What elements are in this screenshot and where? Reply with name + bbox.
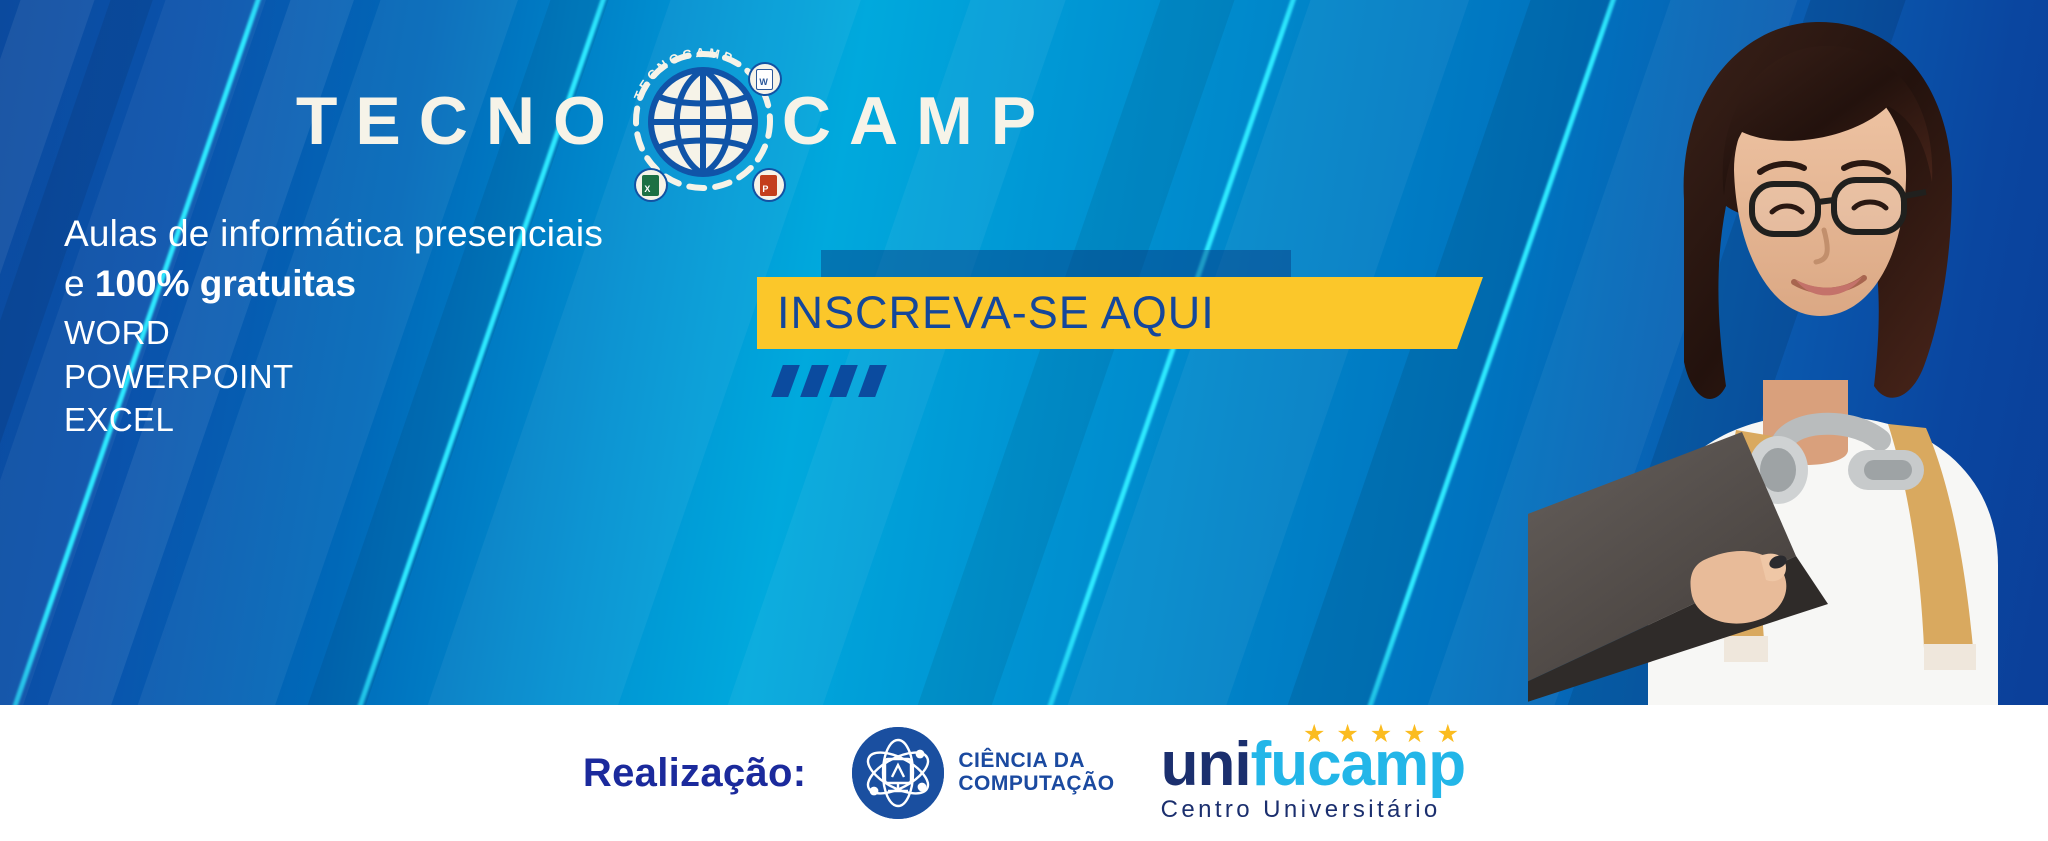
tecnocamp-logo: TECNO TECNOCAMP bbox=[0, 46, 1350, 196]
course-item-excel: EXCEL bbox=[64, 398, 824, 442]
unifucamp-logo: ★★★★★ unifucamp Centro Universitário bbox=[1161, 722, 1465, 825]
logo-text-left: TECNO bbox=[296, 87, 624, 155]
globe-icon: TECNOCAMP W bbox=[628, 46, 778, 196]
hero-section: TECNO TECNOCAMP bbox=[0, 0, 2048, 705]
dash bbox=[800, 365, 829, 397]
inscreva-se-button[interactable]: INSCREVA-SE AQUI bbox=[757, 277, 1457, 349]
tecnocamp-banner: TECNO TECNOCAMP bbox=[0, 0, 2048, 841]
cc-line-1: CIÊNCIA DA bbox=[958, 750, 1114, 773]
headline-line-2-prefix: e bbox=[64, 263, 95, 304]
student-illustration bbox=[1528, 0, 2048, 705]
unifucamp-tagline: Centro Universitário bbox=[1161, 796, 1465, 824]
powerpoint-icon: P bbox=[754, 170, 784, 200]
ciencia-computacao-logo: CIÊNCIA DA COMPUTAÇÃO bbox=[852, 727, 1114, 819]
atom-graphic bbox=[852, 727, 944, 819]
star-icon: ★ bbox=[1403, 722, 1425, 747]
footer-bar: Realização: bbox=[0, 705, 2048, 841]
realizacao-label: Realização: bbox=[583, 751, 806, 796]
excel-icon: X bbox=[636, 170, 666, 200]
headline-line-1: Aulas de informática presenciais bbox=[64, 212, 824, 256]
excel-icon-letter: X bbox=[642, 185, 650, 196]
ciencia-computacao-text: CIÊNCIA DA COMPUTAÇÃO bbox=[958, 750, 1114, 795]
unifucamp-stars: ★★★★★ bbox=[1303, 722, 1459, 747]
headline-line-2-strong: 100% gratuitas bbox=[95, 263, 356, 304]
powerpoint-icon-letter: P bbox=[760, 185, 768, 196]
star-icon: ★ bbox=[1370, 722, 1392, 747]
cta-dashes-decoration bbox=[777, 365, 897, 397]
dash bbox=[858, 365, 887, 397]
star-icon: ★ bbox=[1336, 722, 1358, 747]
atom-icon bbox=[852, 727, 944, 819]
star-icon: ★ bbox=[1437, 722, 1459, 747]
dash bbox=[829, 365, 858, 397]
course-item-powerpoint: POWERPOINT bbox=[64, 355, 824, 399]
word-icon-letter: W bbox=[757, 78, 768, 89]
cta-label: INSCREVA-SE AQUI bbox=[757, 287, 1215, 339]
cc-line-2: COMPUTAÇÃO bbox=[958, 773, 1114, 796]
course-list: WORD POWERPOINT EXCEL bbox=[64, 311, 824, 442]
course-item-word: WORD bbox=[64, 311, 824, 355]
student-photo bbox=[1528, 0, 2048, 705]
word-icon: W bbox=[750, 64, 780, 94]
headline-line-2: e 100% gratuitas bbox=[64, 262, 824, 306]
star-icon: ★ bbox=[1303, 722, 1325, 747]
headline-block: Aulas de informática presenciais e 100% … bbox=[64, 212, 824, 442]
unifucamp-name-part1: uni bbox=[1161, 730, 1251, 799]
logo-text-right: CAMP bbox=[782, 87, 1054, 155]
cta-arrow-tail bbox=[1457, 277, 1483, 349]
